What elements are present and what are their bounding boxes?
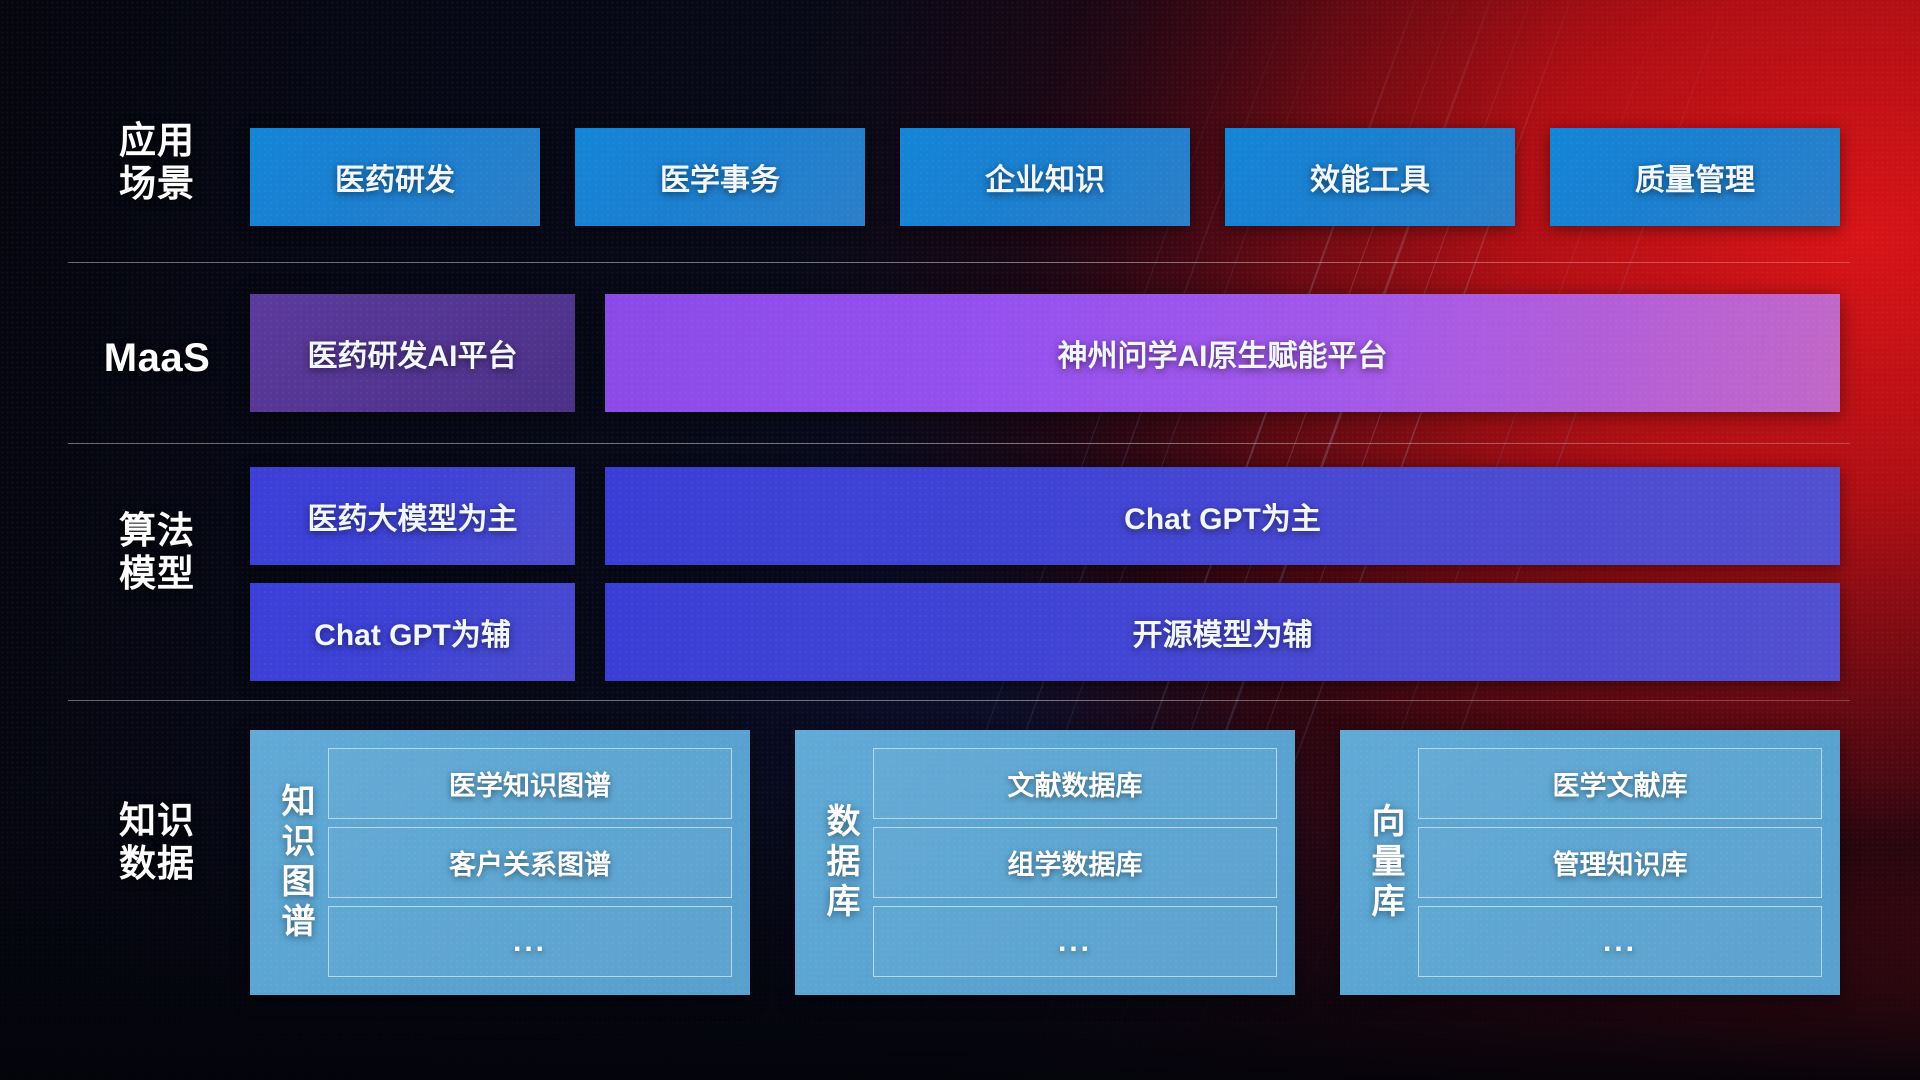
knowledge-panel-database[interactable]: 数据库 文献数据库 组学数据库 ... bbox=[795, 730, 1295, 995]
knowledge-item[interactable]: 医学文献库 bbox=[1418, 748, 1822, 819]
row-label-line: 场景 bbox=[72, 163, 242, 206]
app-box-label: 企业知识 bbox=[985, 155, 1105, 199]
algo-box-pharma-main[interactable]: 医药大模型为主 bbox=[250, 467, 575, 565]
algo-box-label: 医药大模型为主 bbox=[308, 494, 518, 538]
maas-box-label: 神州问学AI原生赋能平台 bbox=[1058, 331, 1388, 375]
algo-box-opensource-aux[interactable]: 开源模型为辅 bbox=[605, 583, 1840, 681]
row-label-line: 知识 bbox=[72, 800, 242, 843]
knowledge-item[interactable]: 组学数据库 bbox=[873, 827, 1277, 898]
row-label-algorithm-model: 算法 模型 bbox=[72, 510, 242, 596]
knowledge-panel-vector-store[interactable]: 向量库 医学文献库 管理知识库 ... bbox=[1340, 730, 1840, 995]
row-label-knowledge-data: 知识 数据 bbox=[72, 800, 242, 886]
knowledge-item-more[interactable]: ... bbox=[873, 906, 1277, 977]
knowledge-panel-items: 文献数据库 组学数据库 ... bbox=[873, 744, 1277, 981]
algo-box-chatgpt-aux[interactable]: Chat GPT为辅 bbox=[250, 583, 575, 681]
knowledge-panel-title: 数据库 bbox=[823, 803, 857, 923]
architecture-diagram: 应用 场景 医药研发 医学事务 企业知识 效能工具 质量管理 MaaS 医药研发… bbox=[0, 0, 1920, 1080]
maas-box-pharma-platform[interactable]: 医药研发AI平台 bbox=[250, 294, 575, 412]
row-label-line: 应用 bbox=[72, 120, 242, 163]
row-label-line: MaaS bbox=[72, 335, 242, 381]
app-box-1[interactable]: 医药研发 bbox=[250, 128, 540, 226]
app-box-label: 效能工具 bbox=[1310, 155, 1430, 199]
algo-box-label: 开源模型为辅 bbox=[1133, 610, 1313, 654]
row-label-line: 模型 bbox=[72, 553, 242, 596]
knowledge-item-more[interactable]: ... bbox=[328, 906, 732, 977]
algo-box-label: Chat GPT为主 bbox=[1124, 494, 1321, 538]
divider-1 bbox=[68, 262, 1850, 263]
app-box-label: 医学事务 bbox=[660, 155, 780, 199]
knowledge-panel-items: 医学知识图谱 客户关系图谱 ... bbox=[328, 744, 732, 981]
app-box-3[interactable]: 企业知识 bbox=[900, 128, 1190, 226]
knowledge-panel-knowledge-graph[interactable]: 知识图谱 医学知识图谱 客户关系图谱 ... bbox=[250, 730, 750, 995]
row-label-line: 数据 bbox=[72, 843, 242, 886]
knowledge-item[interactable]: 管理知识库 bbox=[1418, 827, 1822, 898]
knowledge-item-more[interactable]: ... bbox=[1418, 906, 1822, 977]
app-box-2[interactable]: 医学事务 bbox=[575, 128, 865, 226]
app-box-label: 医药研发 bbox=[335, 155, 455, 199]
algo-box-label: Chat GPT为辅 bbox=[314, 610, 511, 654]
app-box-label: 质量管理 bbox=[1635, 155, 1755, 199]
knowledge-panel-title: 知识图谱 bbox=[278, 783, 312, 943]
maas-box-shenzhou-platform[interactable]: 神州问学AI原生赋能平台 bbox=[605, 294, 1840, 412]
algo-box-chatgpt-main[interactable]: Chat GPT为主 bbox=[605, 467, 1840, 565]
row-label-line: 算法 bbox=[72, 510, 242, 553]
row-label-maas: MaaS bbox=[72, 335, 242, 381]
divider-3 bbox=[68, 700, 1850, 701]
maas-box-label: 医药研发AI平台 bbox=[308, 331, 518, 375]
knowledge-item[interactable]: 文献数据库 bbox=[873, 748, 1277, 819]
row-label-application-scenario: 应用 场景 bbox=[72, 120, 242, 206]
knowledge-item[interactable]: 医学知识图谱 bbox=[328, 748, 732, 819]
app-box-4[interactable]: 效能工具 bbox=[1225, 128, 1515, 226]
divider-2 bbox=[68, 443, 1850, 444]
knowledge-panel-items: 医学文献库 管理知识库 ... bbox=[1418, 744, 1822, 981]
knowledge-panel-title: 向量库 bbox=[1368, 803, 1402, 923]
app-box-5[interactable]: 质量管理 bbox=[1550, 128, 1840, 226]
knowledge-item[interactable]: 客户关系图谱 bbox=[328, 827, 732, 898]
